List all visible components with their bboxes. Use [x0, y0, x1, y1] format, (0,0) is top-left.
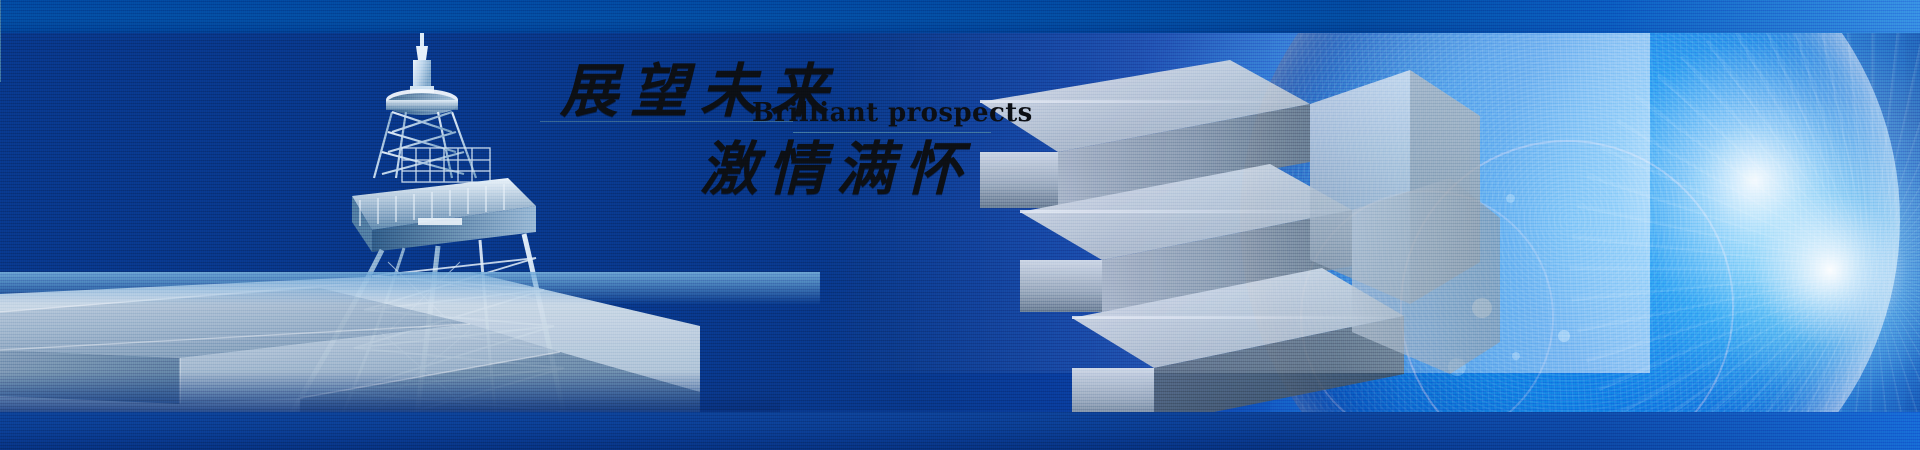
- headline-block: 展望未来 Brilliant prospects 激情满怀: [0, 0, 1920, 450]
- divider-tick-right: [0, 54, 1, 82]
- hero-banner: 展望未来 Brilliant prospects 激情满怀: [0, 0, 1920, 450]
- headline-chinese-line-2: 激情满怀: [700, 140, 972, 198]
- divider-tick-left: [0, 0, 1, 42]
- divider-tick-mid: [0, 42, 1, 54]
- tagline-english: Brilliant prospects: [752, 98, 1033, 128]
- divider-line-bottom: [793, 132, 991, 133]
